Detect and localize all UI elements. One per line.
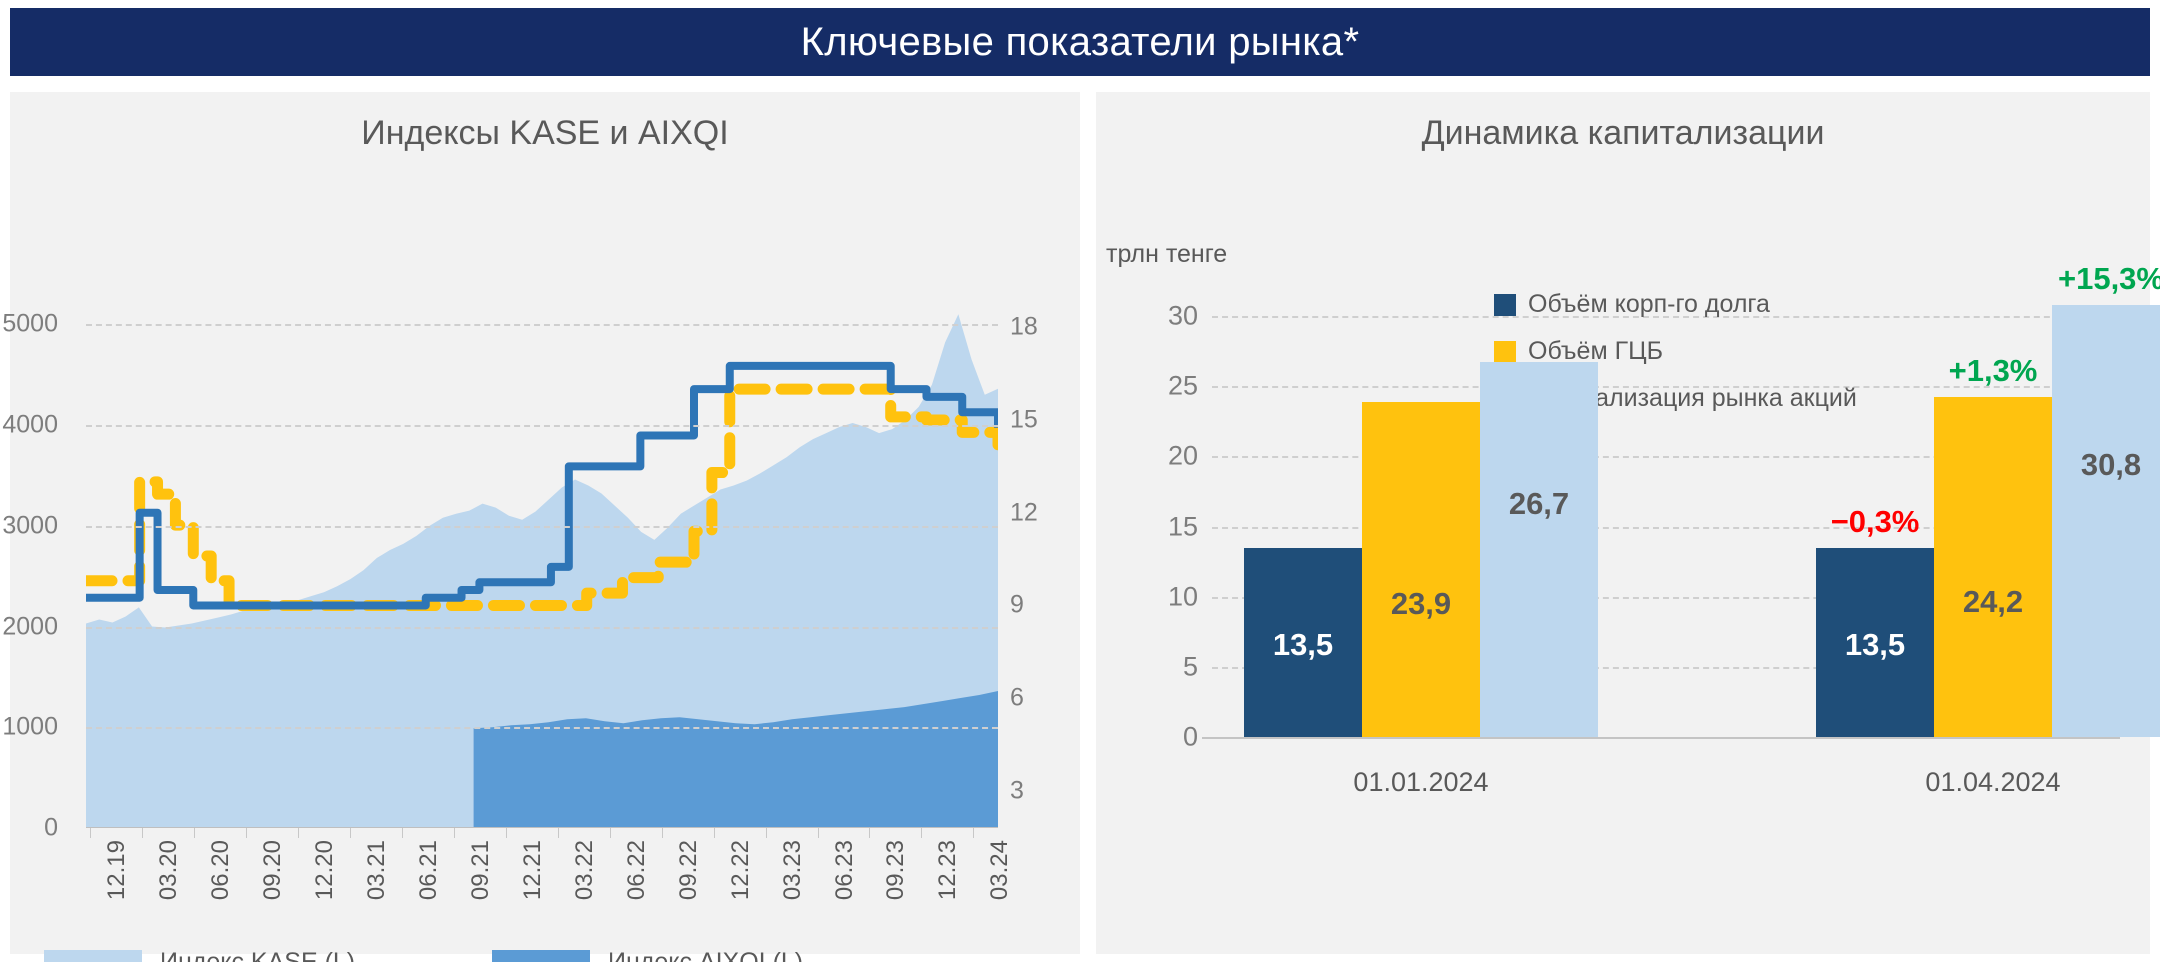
left-chart-xtick-label: 03.21 [363,840,391,900]
right-chart-ytick-label: 20 [1106,441,1198,472]
left-chart-xtick-label: 03.24 [986,840,1014,900]
left-chart-baseline [86,827,998,828]
bar-value-label: 13,5 [1816,627,1934,663]
left-chart-xtick-mark [921,828,922,838]
left-chart-ytick-left: 2000 [2,612,58,641]
page-root: Ключевые показатели рынка* Индексы KASE … [0,0,2160,962]
panel-indices-chart: Индексы KASE и AIXQI 0100020003000400050… [10,92,1080,954]
left-chart-xtick-mark [610,828,611,838]
left-chart-svg [86,284,998,828]
left-chart-xtick-mark [350,828,351,838]
left-chart-gridline [86,324,998,326]
right-chart-baseline [1202,737,2120,739]
left-chart-xtick-mark [714,828,715,838]
bar-value-label: 24,2 [1934,584,2052,620]
left-chart-ytick-left: 5000 [2,310,58,339]
left-chart-ytick-left: 1000 [2,713,58,742]
left-chart-ytick-right: 15 [1010,406,1038,435]
left-chart-xtick-label: 03.23 [779,840,807,900]
bar-value-label: 26,7 [1480,486,1598,522]
left-chart-xtick-label: 06.21 [415,840,443,900]
right-chart-ytick-label: 10 [1106,581,1198,612]
left-chart-xtick-label: 12.19 [103,840,131,900]
left-chart-xtick-mark [454,828,455,838]
capitalization-bar[interactable]: 13,5 [1244,548,1362,737]
left-chart-xtick-mark [869,828,870,838]
capitalization-bar[interactable]: 13,5 [1816,548,1934,737]
left-chart-gridline [86,627,998,629]
left-chart-xtick-label: 09.22 [675,840,703,900]
bar-delta-annotation: +1,3% [1934,353,2052,389]
left-chart-gridline [86,526,998,528]
capitalization-bar[interactable]: 26,7 [1480,362,1598,737]
bar-value-label: 23,9 [1362,586,1480,622]
left-chart-ytick-left: 0 [44,814,58,843]
left-chart-xtick-mark [246,828,247,838]
capitalization-bar[interactable]: 30,8 [2052,305,2160,737]
right-chart-plot-area: 13,523,926,713,5−0,3%24,2+1,3%30,8+15,3% [1216,267,2096,737]
left-chart-xtick-mark [766,828,767,838]
left-chart-xtick-label: 12.20 [311,840,339,900]
left-chart-xtick-label: 12.22 [727,840,755,900]
left-chart-xtick-label: 09.20 [259,840,287,900]
left-chart-xtick-label: 09.21 [467,840,495,900]
left-chart-legend-label: Индекс AIXQI (L) [608,948,803,962]
right-chart-ytick-label: 5 [1106,651,1198,682]
left-chart-xtick-mark [818,828,819,838]
bar-group-category-label: 01.01.2024 [1204,767,1638,798]
right-chart-ytick-label: 15 [1106,511,1198,542]
left-chart-xtick-label: 03.20 [155,840,183,900]
right-chart-ytick-label: 0 [1106,722,1198,753]
left-chart-legend: Индекс KASE (L)Индекс AIXQI (L)Базовая с… [44,948,1054,962]
right-chart-ytick-label: 25 [1106,371,1198,402]
left-chart-title: Индексы KASE и AIXQI [10,114,1080,153]
page-header-banner: Ключевые показатели рынка* [10,8,2150,76]
left-chart-xtick-mark [558,828,559,838]
left-chart-xtick-mark [402,828,403,838]
capitalization-bar[interactable]: 24,2 [1934,397,2052,737]
left-chart-plot-area [86,284,998,828]
page-title: Ключевые показатели рынка* [801,20,1360,65]
left-chart-xtick-mark [142,828,143,838]
left-chart-ytick-right: 6 [1010,684,1024,713]
left-chart-ytick-right: 9 [1010,591,1024,620]
left-chart-xtick-label: 06.23 [831,840,859,900]
left-chart-xtick-mark [662,828,663,838]
right-chart-ytick-label: 30 [1106,301,1198,332]
left-chart-legend-label: Индекс KASE (L) [160,948,355,962]
bar-value-label: 13,5 [1244,627,1362,663]
legend-area-swatch [44,950,142,962]
left-chart-ytick-right: 18 [1010,313,1038,342]
left-chart-xtick-label: 06.20 [207,840,235,900]
left-chart-xtick-mark [506,828,507,838]
panel-capitalization-chart: Динамика капитализации трлн тенге 051015… [1096,92,2150,954]
left-chart-ytick-left: 3000 [2,511,58,540]
left-chart-xtick-label: 12.23 [934,840,962,900]
bar-value-label: 30,8 [2052,447,2160,483]
right-chart-title: Динамика капитализации [1096,114,2150,153]
left-chart-gridline [86,425,998,427]
bar-delta-annotation: +15,3% [2052,261,2160,297]
left-chart-legend-item[interactable]: Индекс KASE (L) [44,948,355,962]
left-chart-legend-item[interactable]: Индекс AIXQI (L) [492,948,803,962]
left-chart-xtick-label: 12.21 [519,840,547,900]
left-chart-xtick-mark [194,828,195,838]
left-chart-xtick-label: 09.23 [882,840,910,900]
left-chart-xtick-mark [90,828,91,838]
left-chart-xtick-mark [298,828,299,838]
left-chart-ytick-right: 3 [1010,776,1024,805]
capitalization-bar[interactable]: 23,9 [1362,402,1480,737]
left-chart-ytick-left: 4000 [2,411,58,440]
bar-delta-annotation: −0,3% [1816,504,1934,540]
bar-group-category-label: 01.04.2024 [1776,767,2160,798]
left-chart-ytick-right: 12 [1010,498,1038,527]
left-chart-xtick-label: 03.22 [571,840,599,900]
legend-area-swatch [492,950,590,962]
right-chart-unit-label: трлн тенге [1106,240,1227,269]
left-chart-xtick-mark [973,828,974,838]
left-chart-xtick-label: 06.22 [623,840,651,900]
left-chart-gridline [86,727,998,729]
